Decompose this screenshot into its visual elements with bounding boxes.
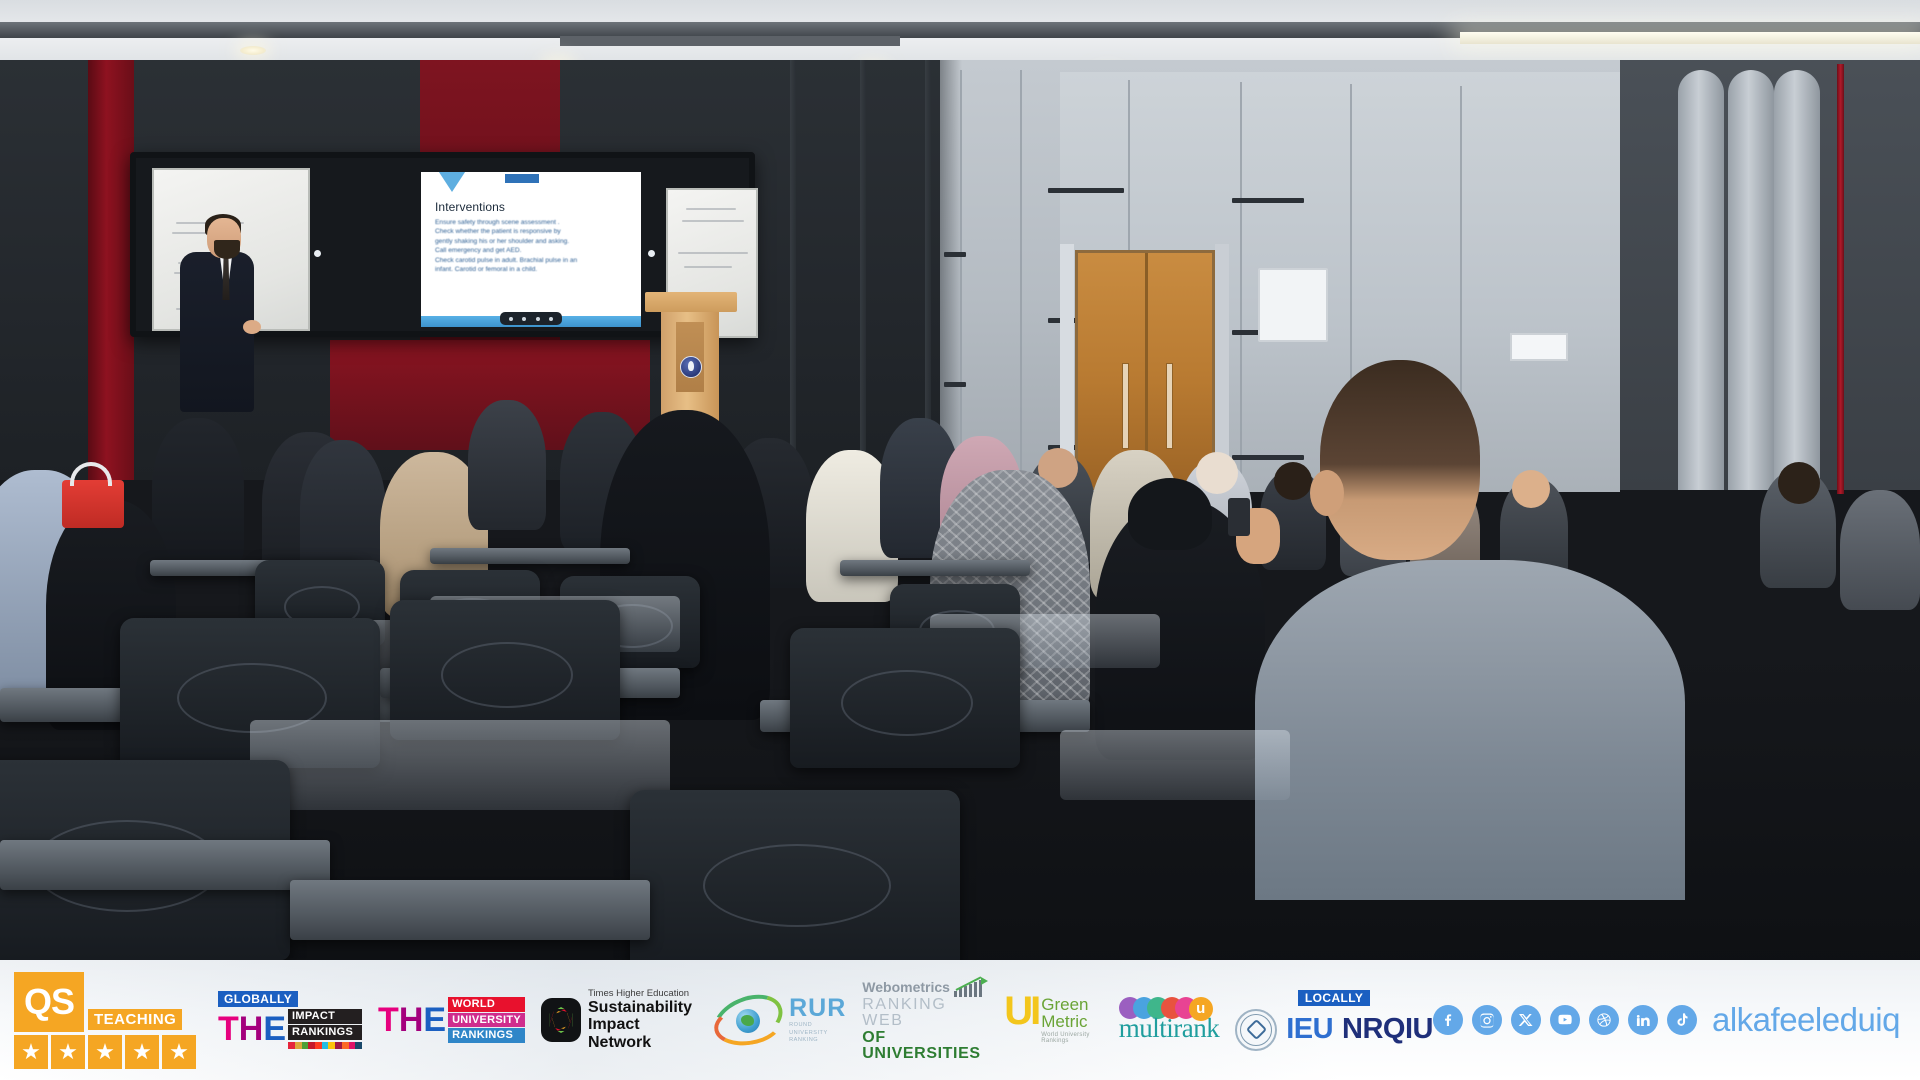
presentation-screen[interactable]: Interventions Ensure safety through scen…	[421, 172, 641, 327]
tiktok-icon[interactable]	[1667, 1005, 1697, 1035]
the-world-line3: RANKINGS	[448, 1028, 525, 1043]
multirank-u: u	[1189, 997, 1213, 1021]
chair-back-foreground	[390, 600, 620, 740]
rur-logo[interactable]: RUR ROUND UNIVERSITY RANKING	[712, 996, 846, 1044]
audience-head	[1128, 478, 1212, 550]
globally-badge: GLOBALLY	[218, 991, 298, 1007]
webometrics-line1: RANKING WEB	[862, 997, 988, 1030]
slide-body: Ensure safety through scene assessment .…	[435, 218, 633, 274]
phone-device	[1228, 498, 1250, 536]
the-world-line2: UNIVERSITY	[448, 1013, 525, 1028]
wall-panel-seam	[960, 70, 962, 490]
man-ear	[1310, 470, 1344, 516]
desk	[430, 548, 630, 564]
wrapped-desk-foreground	[250, 720, 670, 810]
webometrics-line2: OF UNIVERSITIES	[862, 1030, 988, 1063]
slide-line: Check carotid pulse in adult. Brachial p…	[435, 256, 633, 265]
audience-head	[1196, 452, 1238, 494]
dock-dot-icon[interactable]	[522, 317, 526, 321]
wall-slat	[925, 60, 931, 480]
slide-title: Interventions	[435, 200, 505, 214]
lecturer-hand	[243, 320, 261, 334]
the-letter-h: H	[239, 1015, 264, 1044]
sin-line1: Sustainability	[588, 999, 696, 1016]
wall-mounted-panel	[1258, 268, 1328, 342]
chair-back-foreground	[790, 628, 1020, 768]
man-head	[1320, 360, 1480, 560]
the-impact-rankings-logo[interactable]: GLOBALLY T H E IMPACT RANKINGS	[218, 991, 362, 1048]
lecturer-beard	[214, 240, 240, 259]
ieu-seal-icon	[1235, 1009, 1277, 1051]
wall-slat	[790, 60, 796, 480]
qs-star-rating: ★ ★ ★ ★ ★	[14, 1035, 196, 1069]
social-media-bar: alkafeeleduiq	[1433, 1001, 1906, 1039]
youtube-icon[interactable]	[1550, 1005, 1580, 1035]
slide-line: gently shaking his or her shoulder and a…	[435, 237, 633, 246]
instagram-icon[interactable]	[1472, 1005, 1502, 1035]
screenshot-root: Interventions Ensure safety through scen…	[0, 0, 1920, 1080]
qs-teaching-label: TEACHING	[88, 1009, 182, 1030]
footer-branding-bar: QS TEACHING ★ ★ ★ ★ ★ GLOBALLY T H E	[0, 960, 1920, 1080]
webometrics-logo[interactable]: Webometrics RANKING WEB OF UNIVERSITIES	[862, 978, 988, 1062]
hexagon-network-icon	[541, 998, 581, 1042]
social-handle[interactable]: alkafeeleduiq	[1712, 1001, 1900, 1039]
sin-small-label: Times Higher Education	[588, 989, 696, 999]
qs-mark: QS	[14, 972, 84, 1032]
qs-star-icon: ★	[88, 1035, 122, 1069]
wall-corner-shadow	[940, 60, 962, 490]
facebook-icon[interactable]	[1433, 1005, 1463, 1035]
rur-sub2: UNIVERSITY	[789, 1031, 846, 1037]
red-handbag	[62, 480, 124, 528]
red-curtain-left	[88, 60, 134, 480]
board-indicator-dot	[314, 250, 321, 257]
wall-panel-seam	[1020, 70, 1022, 490]
qs-teaching-logo[interactable]: QS TEACHING ★ ★ ★ ★ ★	[14, 972, 196, 1069]
nrqiu-wordmark[interactable]: NRQIU	[1342, 1013, 1433, 1046]
lecturer-suit	[180, 252, 254, 412]
dock-dot-icon[interactable]	[549, 317, 553, 321]
the-letter-t: T	[378, 1006, 399, 1035]
ceiling-trough-secondary	[560, 36, 900, 46]
sin-line2: Impact Network	[588, 1016, 696, 1051]
the-world-university-rankings-logo[interactable]: T H E WORLD UNIVERSITY RANKINGS	[378, 997, 525, 1043]
multirank-logo[interactable]: u multirank	[1119, 997, 1219, 1044]
wall-slot	[1048, 188, 1124, 193]
wall-slat	[860, 60, 866, 480]
wall-panel-seam	[1240, 82, 1242, 492]
the-wordmark: T H E	[218, 1015, 286, 1044]
wall-mounted-sign	[1510, 333, 1568, 361]
linkedin-icon[interactable]	[1628, 1005, 1658, 1035]
x-icon[interactable]	[1511, 1005, 1541, 1035]
greenmetric-ui-mark: UI	[1004, 995, 1038, 1027]
ui-greenmetric-logo[interactable]: UI Green Metric World University Ranking…	[1004, 995, 1102, 1044]
door-vision-panel	[1122, 363, 1129, 449]
qs-star-icon: ★	[162, 1035, 196, 1069]
dribbble-icon[interactable]	[1589, 1005, 1619, 1035]
wall-slot	[1232, 455, 1304, 460]
slide-line: Ensure safety through scene assessment .	[435, 218, 633, 227]
greenmetric-subtitle: World University Rankings	[1041, 1033, 1102, 1045]
red-accent-stripe	[1837, 64, 1844, 494]
slide-chevron-decoration	[435, 172, 469, 192]
ieu-wordmark[interactable]: IEU	[1286, 1013, 1333, 1046]
wall-slot	[1232, 198, 1304, 203]
curved-column	[1728, 70, 1774, 490]
locally-ranking-group: LOCALLY IEU NRQIU	[1235, 990, 1433, 1051]
wall-slot	[944, 252, 966, 257]
the-letter-e: E	[263, 1015, 286, 1044]
slide-line: Check whether the patient is responsive …	[435, 227, 633, 236]
the-letter-t: T	[218, 1015, 239, 1044]
ranking-logo-group: GLOBALLY T H E IMPACT RANKINGS	[218, 978, 1433, 1062]
webometrics-wordmark: Webometrics	[862, 980, 950, 994]
sustainability-impact-network-logo[interactable]: Times Higher Education Sustainability Im…	[541, 989, 696, 1051]
the-world-line1: WORLD	[448, 997, 525, 1012]
desk-nearest	[0, 840, 330, 890]
qs-star-icon: ★	[125, 1035, 159, 1069]
rur-eye-icon	[712, 997, 784, 1043]
slide-line: infant. Carotid or femoral in a child.	[435, 265, 633, 274]
desk-nearest	[290, 880, 650, 940]
audience-head	[1274, 462, 1312, 500]
qs-star-icon: ★	[14, 1035, 48, 1069]
audience-member-hijab	[468, 400, 546, 530]
greenmetric-word2: Metric	[1041, 1014, 1102, 1030]
slide-line: Call emergency and get AED.	[435, 246, 633, 255]
rur-wordmark: RUR	[789, 996, 846, 1021]
audience-head	[1512, 470, 1550, 508]
rur-sub1: ROUND	[789, 1023, 846, 1029]
gray-suit-shoulders	[1255, 560, 1685, 900]
wall-slot	[944, 382, 966, 387]
audience-member-hijab	[152, 418, 244, 568]
audience-head	[1778, 462, 1820, 504]
wrapped-desk-foreground	[1060, 730, 1290, 800]
slide-header-tag	[505, 174, 539, 183]
rur-sub3: RANKING	[789, 1038, 846, 1044]
dock-dot-icon[interactable]	[536, 317, 540, 321]
growth-chart-icon	[954, 978, 988, 997]
board-indicator-dot	[648, 250, 655, 257]
curved-column	[1774, 70, 1820, 490]
university-emblem	[680, 356, 702, 378]
desk	[840, 560, 1030, 576]
the-wordmark: T H E	[378, 1006, 446, 1035]
locally-badge: LOCALLY	[1298, 990, 1370, 1006]
podium-top	[645, 292, 737, 312]
qs-star-icon: ★	[51, 1035, 85, 1069]
the-letter-h: H	[399, 1006, 424, 1035]
curved-column	[1678, 70, 1724, 490]
screen-dock[interactable]	[500, 312, 562, 325]
downlight	[240, 46, 266, 55]
the-letter-e: E	[423, 1006, 446, 1035]
the-impact-line1: IMPACT	[288, 1009, 362, 1024]
lecture-hall-photo: Interventions Ensure safety through scen…	[0, 0, 1920, 960]
sdg-color-bar	[288, 1042, 362, 1049]
dock-dot-icon[interactable]	[509, 317, 513, 321]
door-vision-panel	[1166, 363, 1173, 449]
audience-member	[1840, 490, 1920, 610]
the-impact-line2: RANKINGS	[288, 1025, 362, 1040]
cove-light-strip	[1460, 32, 1920, 44]
chair-back-nearest	[630, 790, 960, 960]
